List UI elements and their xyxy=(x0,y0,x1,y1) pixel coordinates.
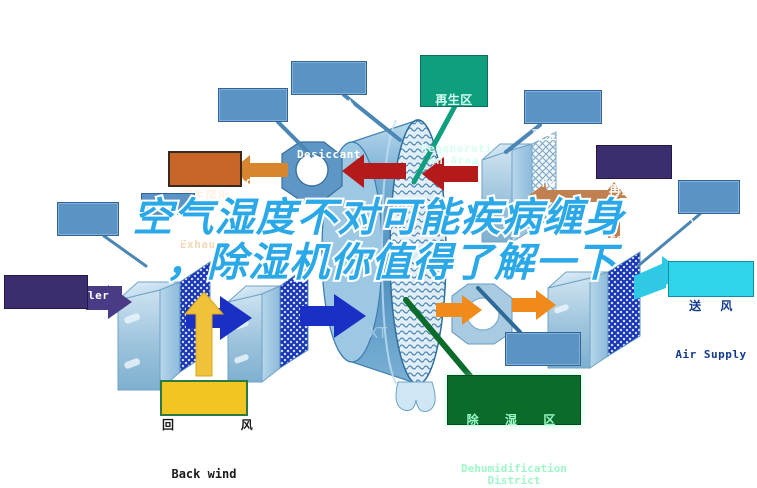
label-air-supply[interactable]: 送 风 Air Supply xyxy=(668,261,754,297)
label-cooler-left[interactable]: 冷却器 Cooler xyxy=(57,202,119,236)
label-cooler-left-secondary[interactable]: 冷却器 xyxy=(141,193,195,215)
label-regen-heater[interactable]: 再生加热器 heater xyxy=(524,90,602,124)
label-regen-blower-cn: 再生风机 xyxy=(219,127,287,140)
label-desiccant[interactable]: 除湿转轮 Desiccant xyxy=(291,61,367,95)
label-air-supply-cn: 送 风 xyxy=(669,300,753,313)
label-regen-area-cn: 再生区 xyxy=(421,94,487,107)
label-fresh-air[interactable]: 新 风 Fresh Air xyxy=(4,275,88,309)
label-dehum-area[interactable]: 除 湿 区 Dehumidification District xyxy=(447,375,581,425)
label-regen-fresh-air[interactable]: 再生风进 Fresh Air xyxy=(596,145,672,179)
label-desiccant-en: Desiccant xyxy=(292,149,366,161)
label-cooler-right-cn: 冷却器 xyxy=(679,219,739,232)
label-exhaust[interactable]: 再生风出 Exhaust xyxy=(168,151,242,187)
label-dehum-blower[interactable]: 除湿风机 Blower xyxy=(505,332,581,366)
label-regen-fresh-air-cn: 再生风进 xyxy=(597,184,671,197)
label-dehum-area-cn: 除 湿 区 xyxy=(448,414,580,427)
label-fresh-air-en: Fresh Air xyxy=(5,363,87,375)
label-back-wind[interactable]: 回 风 Back wind xyxy=(160,380,248,416)
label-regen-blower[interactable]: 再生风机 Blower xyxy=(218,88,288,122)
label-back-wind-en: Back wind xyxy=(162,468,246,481)
label-back-wind-cn: 回 风 xyxy=(162,419,246,432)
watermark: XT xyxy=(368,324,388,342)
label-regen-area-en: Regenerati on Area xyxy=(421,143,487,168)
label-desiccant-cn: 除湿转轮 xyxy=(292,100,366,113)
label-cooler-left-cn: 冷却器 xyxy=(58,241,118,254)
label-regen-heater-cn: 再生加热器 xyxy=(525,129,601,142)
label-air-supply-en: Air Supply xyxy=(669,349,753,361)
label-regen-heater-en: heater xyxy=(525,178,601,190)
label-regen-fresh-air-en: Fresh Air xyxy=(597,233,671,245)
label-dehum-area-en: Dehumidification District xyxy=(448,463,580,488)
label-cooler-right[interactable]: 冷却器 Cooler xyxy=(678,180,740,214)
label-fresh-air-cn: 新 风 xyxy=(5,314,87,327)
diagram-canvas: XT xyxy=(0,0,757,488)
label-regen-area[interactable]: 再生区 Regenerati on Area xyxy=(420,55,488,107)
label-cooler-left-secondary-cn: 冷却器 xyxy=(142,232,194,244)
